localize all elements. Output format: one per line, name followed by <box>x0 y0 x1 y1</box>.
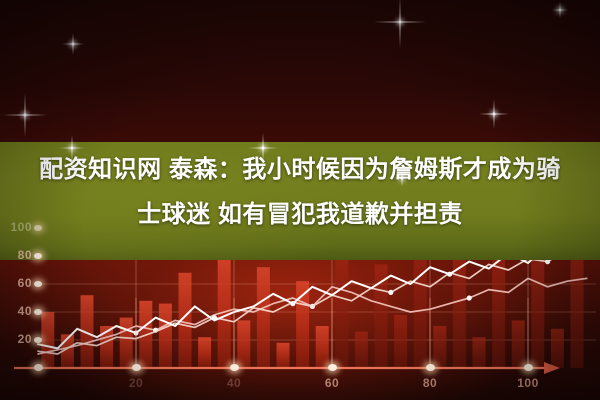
x-axis-tick-dot <box>524 364 533 371</box>
x-axis-tick-label: 40 <box>220 376 248 390</box>
x-axis-tick-label: 100 <box>514 376 542 390</box>
banner-image: 配资知识网 泰森：我小时候因为詹姆斯才成为骑 士球迷 如有冒犯我道歉并担责 20… <box>0 0 600 400</box>
y-axis-tick-label: 80 <box>2 248 32 262</box>
y-axis-tick-label: 20 <box>2 332 32 346</box>
y-axis-tick-dot <box>34 281 42 287</box>
y-axis-tick-label: 40 <box>2 304 32 318</box>
x-axis-tick-dot <box>132 364 141 371</box>
y-axis-tick-dot <box>34 253 42 259</box>
x-axis-tick-label: 60 <box>318 376 346 390</box>
x-axis-tick-label: 20 <box>122 376 150 390</box>
headline-line-1: 配资知识网 泰森：我小时候因为詹姆斯才成为骑 <box>0 158 600 182</box>
x-axis-tick-dot <box>34 364 43 371</box>
x-axis-tick-dot <box>328 364 337 371</box>
y-axis-tick-dot <box>34 225 42 231</box>
y-axis-tick-dot <box>34 309 42 315</box>
x-axis-tick-dot <box>426 364 435 371</box>
headline-line-2: 士球迷 如有冒犯我道歉并担责 <box>0 203 600 227</box>
y-axis-tick-dot <box>34 337 42 343</box>
x-axis-tick-label: 80 <box>416 376 444 390</box>
y-axis-tick-label: 100 <box>2 220 32 234</box>
y-axis-tick-label: 60 <box>2 276 32 290</box>
x-axis-tick-dot <box>230 364 239 371</box>
